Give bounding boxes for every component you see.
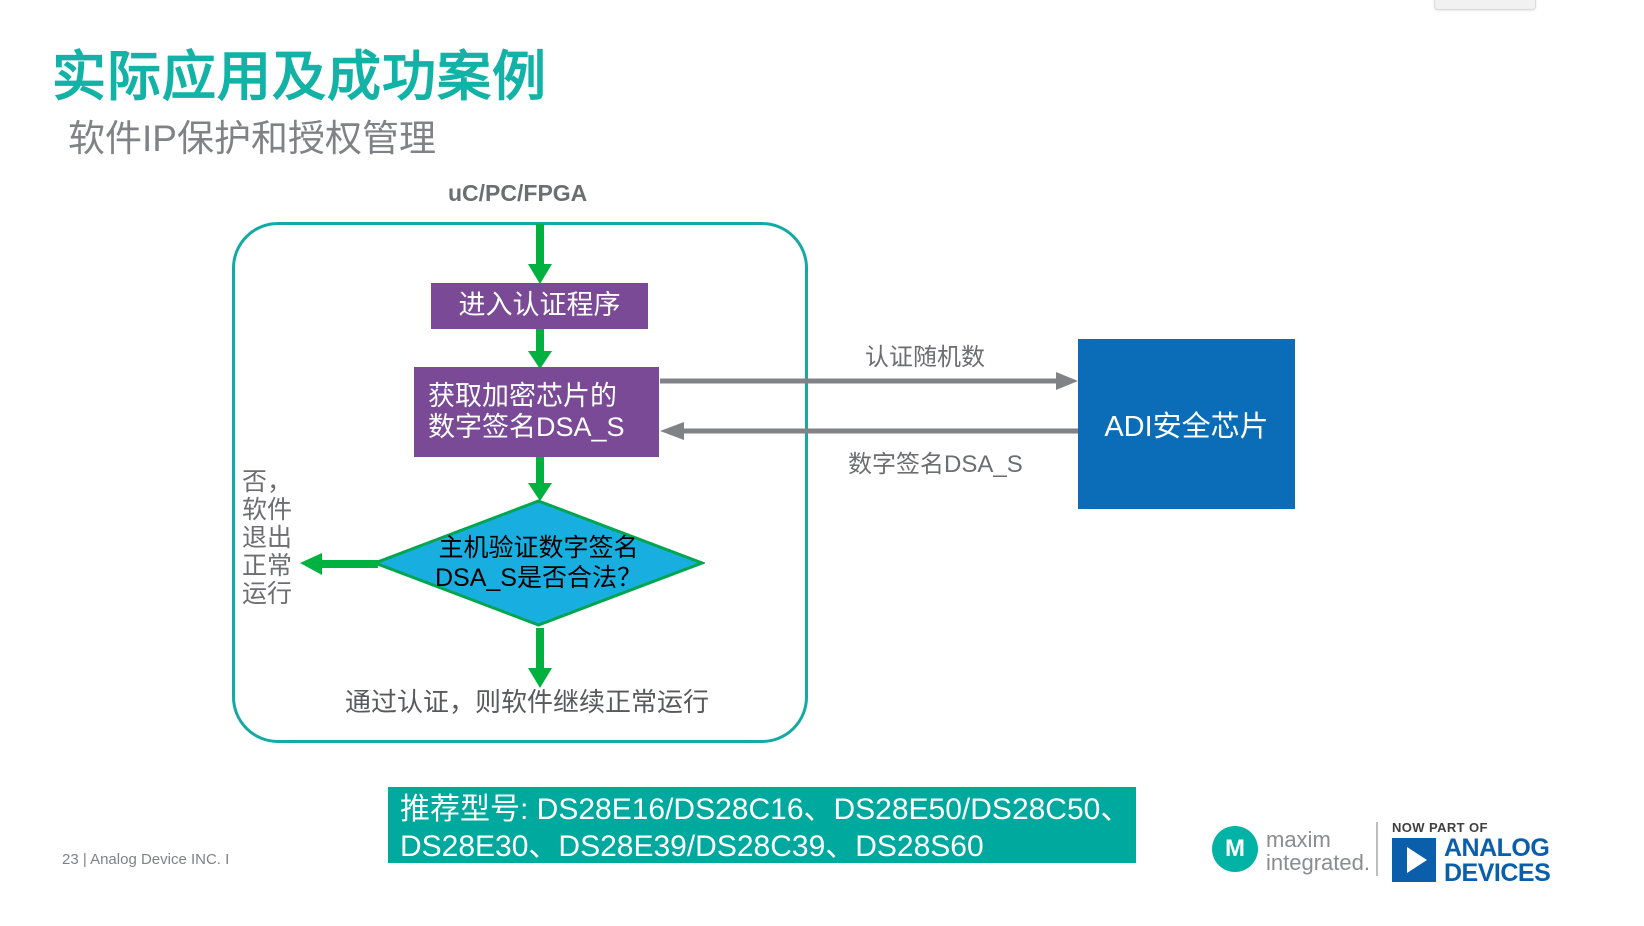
maxim-logo-icon: M — [1212, 826, 1258, 872]
no-branch-line-1: 否， — [238, 468, 296, 496]
slide-footer: 23 | Analog Device INC. I — [62, 851, 229, 868]
arrow-decision-no-branch — [298, 552, 380, 576]
secure-chip-label: ADI安全芯片 — [1104, 403, 1268, 445]
node-enter-auth-label: 进入认证程序 — [459, 290, 621, 321]
arrow-into-enter-node — [527, 224, 553, 286]
wire-to-secure-chip — [660, 370, 1080, 392]
pass-result-text: 通过认证，则软件继续正常运行 — [345, 682, 709, 719]
maxim-wordmark-line1: maxim — [1266, 828, 1370, 851]
top-right-ui-chip[interactable] — [1434, 0, 1536, 10]
arrow-fetch-to-decision — [527, 457, 553, 503]
page-subtitle: 软件IP保护和授权管理 — [68, 108, 436, 162]
host-boundary-label: uC/PC/FPGA — [448, 180, 587, 207]
analog-devices-line1: ANALOG — [1444, 836, 1550, 861]
wire-label-nonce: 认证随机数 — [865, 337, 985, 372]
now-part-of-label: NOW PART OF — [1392, 820, 1488, 835]
node-fetch-signature: 获取加密芯片的 数字签名DSA_S — [414, 367, 659, 457]
maxim-wordmark-line2: integrated. — [1266, 851, 1370, 874]
page-title: 实际应用及成功案例 — [52, 32, 547, 111]
no-branch-line-5: 运行 — [238, 580, 296, 608]
no-branch-line-4: 正常 — [238, 552, 296, 580]
logo-divider — [1376, 822, 1378, 876]
slide-canvas: 实际应用及成功案例 软件IP保护和授权管理 uC/PC/FPGA 进入认证程序 … — [0, 0, 1644, 926]
secure-chip-box: ADI安全芯片 — [1078, 339, 1295, 509]
arrow-decision-yes-branch — [527, 628, 553, 690]
node-decision-verify: 主机验证数字签名 DSA_S是否合法？ — [372, 498, 705, 628]
no-branch-label: 否， 软件 退出 正常 运行 — [238, 468, 296, 608]
analog-devices-line2: DEVICES — [1444, 861, 1550, 886]
no-branch-line-2: 软件 — [238, 496, 296, 524]
wire-from-secure-chip — [660, 420, 1080, 442]
no-branch-line-3: 退出 — [238, 524, 296, 552]
recommendation-line1: 推荐型号: DS28E16/DS28C16、DS28E50/DS28C50、 — [400, 792, 1136, 829]
arrow-enter-to-fetch — [527, 329, 553, 371]
recommendation-line2: DS28E30、DS28E39/DS28C39、DS28S60 — [400, 829, 1136, 866]
brand-logos: M maxim integrated. NOW PART OF ANALOG D… — [1212, 812, 1572, 884]
analog-devices-wordmark: ANALOG DEVICES — [1444, 836, 1550, 886]
maxim-wordmark: maxim integrated. — [1266, 828, 1370, 875]
recommendation-banner: 推荐型号: DS28E16/DS28C16、DS28E50/DS28C50、 D… — [388, 787, 1136, 863]
analog-devices-triangle-icon — [1392, 838, 1436, 882]
node-fetch-signature-line1: 获取加密芯片的 — [428, 381, 617, 412]
node-enter-auth: 进入认证程序 — [431, 283, 648, 329]
wire-label-signature: 数字签名DSA_S — [848, 444, 1023, 479]
node-fetch-signature-line2: 数字签名DSA_S — [428, 412, 625, 443]
